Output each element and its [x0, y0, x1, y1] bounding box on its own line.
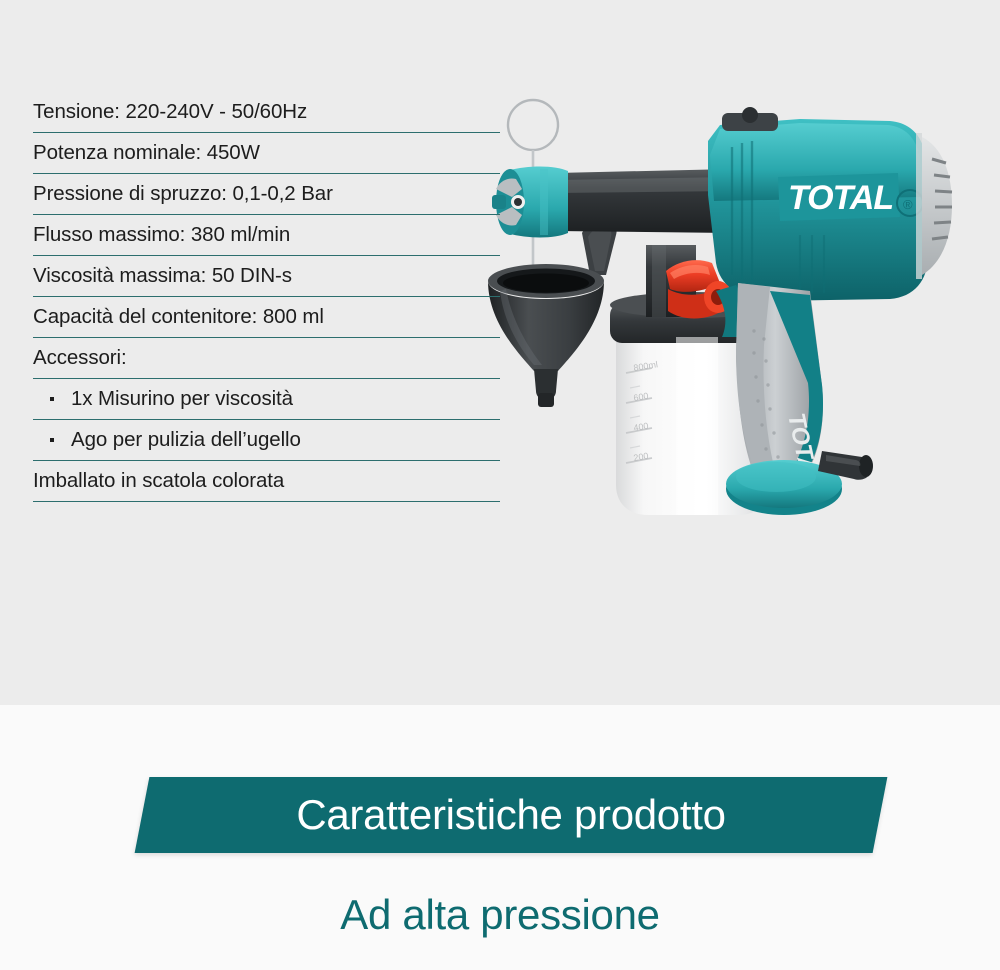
- feature-banner: Caratteristiche prodotto: [135, 777, 888, 853]
- spec-row: Tensione: 220-240V - 50/60Hz: [33, 92, 500, 133]
- bullet-icon: [50, 397, 54, 401]
- spec-row-accessory-item: Ago per pulizia dell’ugello: [33, 420, 500, 461]
- feature-subtitle: Ad alta pressione: [0, 891, 1000, 939]
- spec-text: 1x Misurino per viscosità: [33, 387, 293, 411]
- specification-list: Tensione: 220-240V - 50/60Hz Potenza nom…: [33, 92, 500, 502]
- spec-text: Imballato in scatola colorata: [33, 469, 284, 493]
- spec-row: Flusso massimo: 380 ml/min: [33, 215, 500, 256]
- spec-row-accessories-header: Accessori:: [33, 338, 500, 379]
- specification-panel: Tensione: 220-240V - 50/60Hz Potenza nom…: [0, 0, 1000, 705]
- spec-row: Viscosità massima: 50 DIN-s: [33, 256, 500, 297]
- svg-text:TOTAL: TOTAL: [788, 179, 893, 217]
- feature-panel: Caratteristiche prodotto Ad alta pressio…: [0, 705, 1000, 970]
- spec-row: Pressione di spruzzo: 0,1-0,2 Bar: [33, 174, 500, 215]
- bullet-icon: [50, 438, 54, 442]
- feature-banner-title: Caratteristiche prodotto: [142, 777, 880, 853]
- nozzle-cap: [492, 167, 568, 238]
- gun-handle: TOTAL: [736, 283, 824, 490]
- spec-row-accessory-item: 1x Misurino per viscosità: [33, 379, 500, 420]
- spec-text: Flusso massimo: 380 ml/min: [33, 223, 290, 247]
- spec-text: Viscosità massima: 50 DIN-s: [33, 264, 292, 288]
- spec-text: Accessori:: [33, 346, 127, 370]
- spec-text: Potenza nominale: 450W: [33, 141, 260, 165]
- spec-text: Tensione: 220-240V - 50/60Hz: [33, 100, 307, 124]
- gun-barrel: [556, 169, 732, 233]
- spec-row: Imballato in scatola colorata: [33, 461, 500, 502]
- spec-text: Capacità del contenitore: 800 ml: [33, 305, 324, 329]
- spec-row: Potenza nominale: 450W: [33, 133, 500, 174]
- viscosity-measuring-cup-icon: [488, 219, 617, 407]
- svg-text:®: ®: [903, 197, 913, 212]
- gun-body: TOTAL ®: [708, 107, 928, 301]
- motor-housing-vents: [916, 133, 952, 279]
- spec-text: Pressione di spruzzo: 0,1-0,2 Bar: [33, 182, 333, 206]
- spec-text: Ago per pulizia dell’ugello: [33, 428, 301, 452]
- spec-row: Capacità del contenitore: 800 ml: [33, 297, 500, 338]
- product-image-spray-gun: 800ml 600 400 200: [470, 85, 1000, 555]
